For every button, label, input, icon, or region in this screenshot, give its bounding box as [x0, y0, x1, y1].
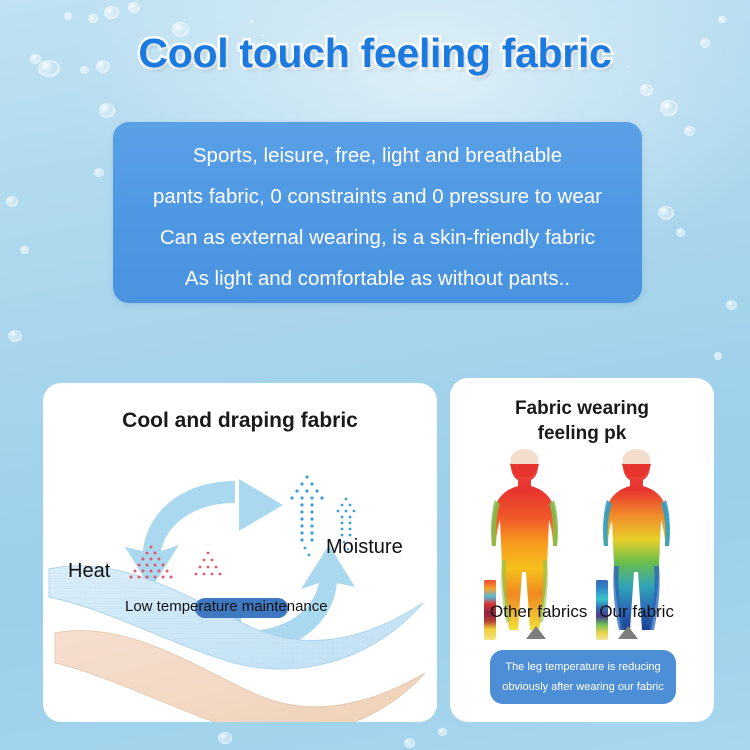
intro-panel: Sports, leisure, free, light and breatha…	[113, 122, 642, 303]
triangle-marker-icon	[526, 626, 546, 639]
caption-panel: The leg temperature is reducing obviousl…	[490, 650, 676, 704]
bubble-icon	[218, 732, 232, 744]
label-low-temperature: Low temperature maintenance	[125, 598, 328, 615]
card-fabric-wearing-pk: Fabric wearing feeling pk	[450, 378, 714, 722]
label-our-fabric: Our fabric	[599, 602, 674, 622]
bubble-icon	[718, 16, 726, 23]
bubble-icon	[99, 103, 115, 118]
promo-page: Cool touch feeling fabric Sports, leisur…	[0, 0, 750, 750]
spray-dot-icon	[250, 20, 253, 23]
bubble-icon	[104, 6, 119, 19]
intro-line: Sports, leisure, free, light and breatha…	[123, 135, 632, 176]
bubble-icon	[640, 84, 653, 96]
bubble-icon	[8, 330, 22, 342]
label-other-fabrics: Other fabrics	[490, 602, 587, 622]
bubble-icon	[660, 100, 678, 116]
bubble-icon	[438, 728, 447, 736]
caption-line: The leg temperature is reducing	[499, 657, 667, 677]
bubble-icon	[20, 246, 29, 254]
caption-line: obviously after wearing our fabric	[499, 677, 667, 697]
bubble-icon	[684, 126, 695, 136]
triangle-marker-icon	[618, 626, 638, 639]
card-cool-draping-fabric: Cool and draping fabric	[43, 383, 437, 722]
fabric-diagram: Heat Moisture Low temperature maintenanc…	[43, 441, 437, 722]
intro-line: Can as external wearing, is a skin-frien…	[123, 217, 632, 258]
bubble-icon	[64, 12, 72, 20]
bubble-icon	[6, 196, 18, 207]
bubble-icon	[404, 738, 415, 748]
bubble-icon	[88, 14, 98, 23]
intro-line: As light and comfortable as without pant…	[123, 258, 632, 299]
label-heat: Heat	[68, 560, 110, 583]
card-right-title: Fabric wearing feeling pk	[450, 396, 714, 446]
label-moisture: Moisture	[326, 536, 403, 559]
bubble-icon	[128, 2, 140, 13]
bubble-icon	[714, 352, 722, 360]
bubble-icon	[94, 168, 104, 177]
bubble-icon	[676, 228, 685, 237]
bubble-icon	[658, 206, 674, 220]
intro-line: pants fabric, 0 constraints and 0 pressu…	[123, 176, 632, 217]
comparison-labels: Other fabrics Our fabric	[450, 602, 714, 622]
bubble-icon	[726, 300, 737, 310]
card-right-title-line: Fabric wearing	[450, 396, 714, 421]
page-title: Cool touch feeling fabric	[0, 30, 750, 77]
card-left-title: Cool and draping fabric	[43, 409, 437, 433]
comparison-markers	[450, 626, 714, 639]
